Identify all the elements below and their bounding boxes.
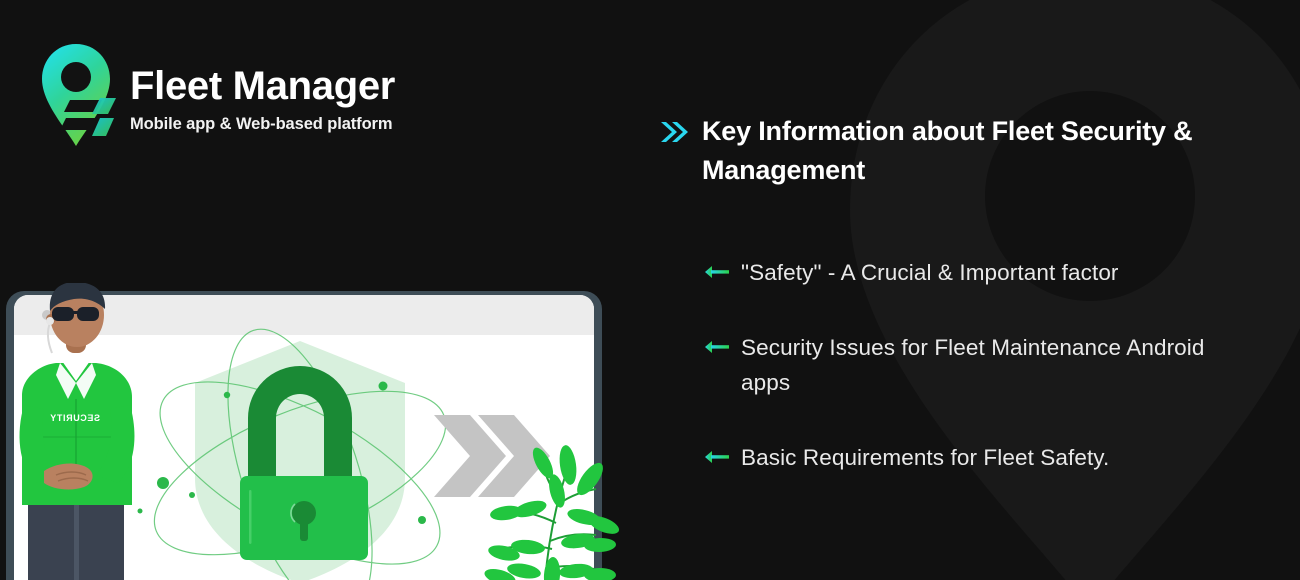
arrow-left-bullet-icon xyxy=(705,450,729,464)
location-pin-logo-icon xyxy=(40,42,116,150)
list-item: Basic Requirements for Fleet Safety. xyxy=(660,441,1260,476)
arrow-left-bullet-icon xyxy=(705,265,729,279)
list-item-label: "Safety" - A Crucial & Important factor xyxy=(741,256,1119,291)
accent-dot xyxy=(138,509,143,514)
lock-keyhole-stem xyxy=(300,513,308,541)
page-title: Key Information about Fleet Security & M… xyxy=(702,112,1260,190)
list-item-label: Basic Requirements for Fleet Safety. xyxy=(741,441,1109,476)
double-chevron-right-icon xyxy=(660,121,688,143)
content-panel: Key Information about Fleet Security & M… xyxy=(660,112,1260,476)
accent-dot xyxy=(224,392,230,398)
list-item: Security Issues for Fleet Maintenance An… xyxy=(660,331,1260,401)
jacket-label: SECURITY xyxy=(50,413,100,423)
heading-row: Key Information about Fleet Security & M… xyxy=(660,112,1260,190)
list-item: "Safety" - A Crucial & Important factor xyxy=(660,256,1260,291)
accent-dot xyxy=(157,477,169,489)
list-item-label: Security Issues for Fleet Maintenance An… xyxy=(741,331,1260,401)
accent-dot xyxy=(379,382,388,391)
brand-logo: Fleet Manager Mobile app & Web-based pla… xyxy=(40,42,395,150)
accent-dot xyxy=(418,516,426,524)
brand-title: Fleet Manager xyxy=(130,65,395,107)
arrow-left-bullet-icon xyxy=(705,340,729,354)
slide-root: Fleet Manager Mobile app & Web-based pla… xyxy=(0,0,1300,580)
hands xyxy=(44,464,93,490)
fleet-security-illustration: SECURITY xyxy=(0,283,700,580)
accent-dot xyxy=(189,492,195,498)
bullet-list: "Safety" - A Crucial & Important factor … xyxy=(660,256,1260,476)
lock-highlight xyxy=(249,490,252,544)
brand-tagline: Mobile app & Web-based platform xyxy=(130,115,395,134)
